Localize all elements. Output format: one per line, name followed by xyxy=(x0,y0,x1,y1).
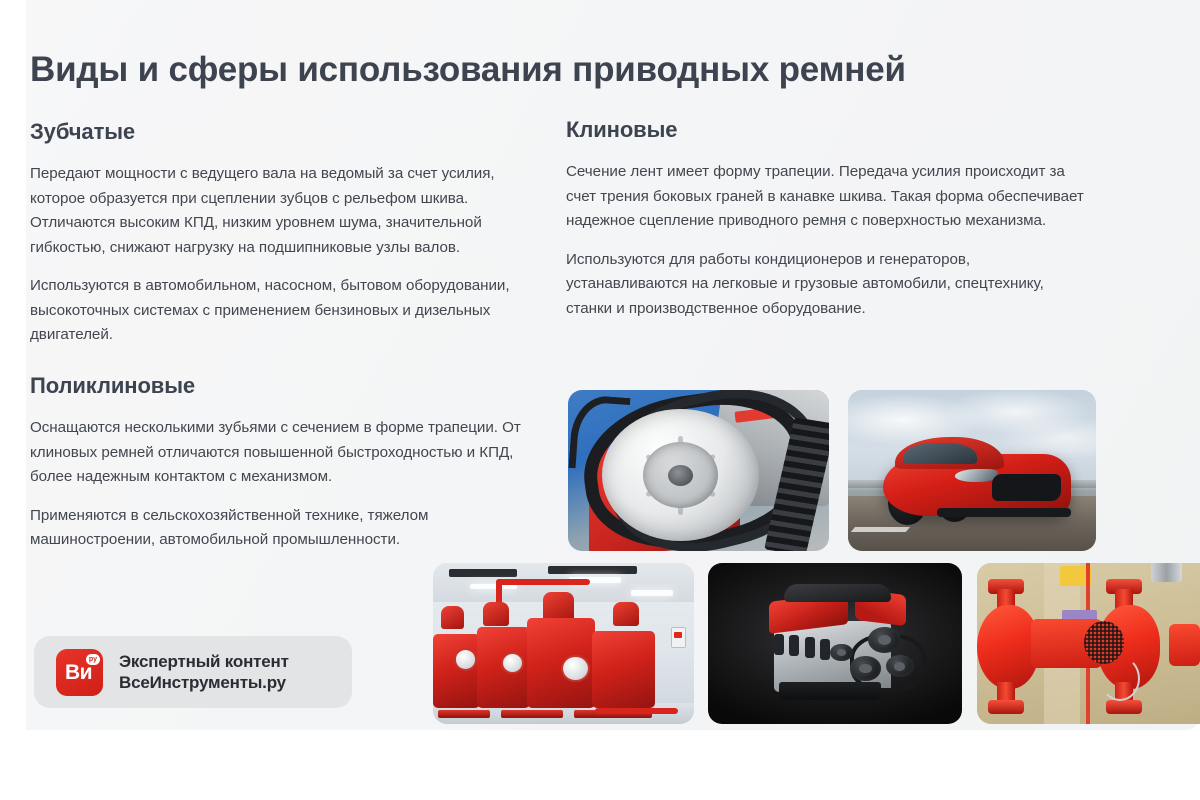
gallery-image-red-valves xyxy=(977,563,1200,724)
section-paragraph: Используются в автомобильном, насосном, … xyxy=(30,274,530,348)
vseinstrumenty-logo-icon: Ви ру xyxy=(56,649,103,696)
belt-photo xyxy=(568,390,829,551)
section-paragraph: Применяются в сельскохозяйственной техни… xyxy=(30,504,530,553)
section-paragraph: Сечение лент имеет форму трапеции. Перед… xyxy=(566,160,1086,234)
gallery-image-v8-engine xyxy=(708,563,962,724)
car-photo xyxy=(848,390,1096,551)
section-paragraph: Используются для работы кондиционеров и … xyxy=(566,248,1086,322)
slide-root: Виды и сферы использования приводных рем… xyxy=(0,0,1200,800)
section-heading-poliklinovye: Поликлиновые xyxy=(30,372,530,400)
logo-domain-superscript: ру xyxy=(86,654,100,665)
section-zubchatye: Зубчатые Передают мощности с ведущего ва… xyxy=(30,118,530,348)
section-paragraph: Передают мощности с ведущего вала на вед… xyxy=(30,162,530,260)
section-poliklinovye: Поликлиновые Оснащаются несколькими зубь… xyxy=(30,372,530,553)
section-heading-zubchatye: Зубчатые xyxy=(30,118,530,146)
logo-letters: Ви xyxy=(65,662,94,683)
engine-photo xyxy=(708,563,962,724)
valves-photo xyxy=(977,563,1200,724)
badge-line-2: ВсеИнструменты.ру xyxy=(119,672,289,693)
gallery-image-pump-station xyxy=(433,563,694,724)
section-heading-klinovye: Клиновые xyxy=(566,116,1086,144)
section-klinovye: Клиновые Сечение лент имеет форму трапец… xyxy=(566,116,1086,321)
badge-text-block: Экспертный контент ВсеИнструменты.ру xyxy=(119,651,289,693)
gallery-image-belt-pulley xyxy=(568,390,829,551)
badge-line-1: Экспертный контент xyxy=(119,651,289,672)
gallery-image-red-car xyxy=(848,390,1096,551)
brand-badge[interactable]: Ви ру Экспертный контент ВсеИнструменты.… xyxy=(34,636,352,708)
section-paragraph: Оснащаются несколькими зубьями с сечение… xyxy=(30,416,530,490)
pump-photo xyxy=(433,563,694,724)
page-title: Виды и сферы использования приводных рем… xyxy=(30,48,1150,92)
